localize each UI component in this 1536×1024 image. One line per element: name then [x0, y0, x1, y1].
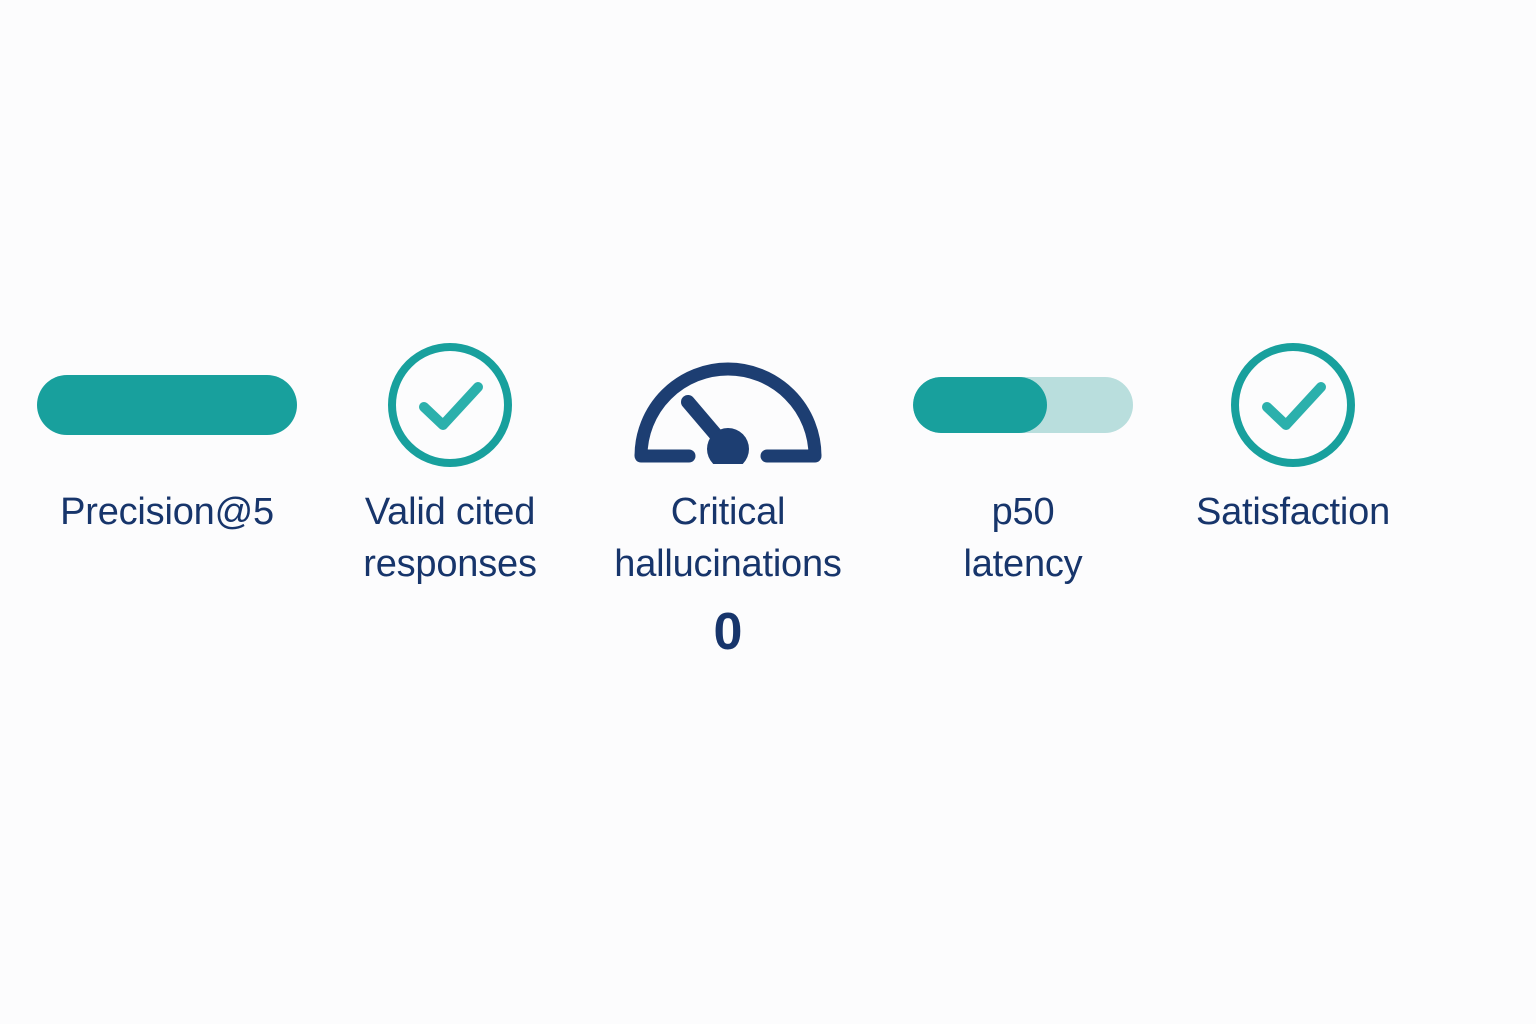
check-circle-icon [386, 341, 514, 469]
metric-label: Valid cited responses [363, 486, 537, 590]
metric-satisfaction: Satisfaction [1150, 340, 1436, 538]
icon-slot [898, 340, 1148, 470]
progress-bar-icon [913, 377, 1133, 433]
metric-value: 0 [714, 604, 743, 660]
metric-precision-at-5: Precision@5 [12, 340, 322, 538]
check-circle-icon [1229, 341, 1357, 469]
icon-slot [576, 340, 880, 470]
gauge-icon [633, 346, 823, 464]
metric-critical-hallucinations: Critical hallucinations 0 [576, 340, 880, 660]
metric-p50-latency: p50 latency [898, 340, 1148, 590]
icon-slot [1150, 340, 1436, 470]
metric-label: Precision@5 [60, 486, 274, 538]
icon-slot [12, 340, 322, 470]
metric-valid-cited-responses: Valid cited responses [316, 340, 584, 590]
metric-label: Satisfaction [1196, 486, 1390, 538]
metric-label: p50 latency [963, 486, 1082, 590]
progress-bar-fill [913, 377, 1047, 433]
metrics-row: Precision@5 Valid cited responses Critic… [0, 0, 1536, 1024]
icon-slot [316, 340, 584, 470]
filled-pill-bar-icon [37, 375, 297, 435]
metric-label: Critical hallucinations [614, 486, 841, 590]
